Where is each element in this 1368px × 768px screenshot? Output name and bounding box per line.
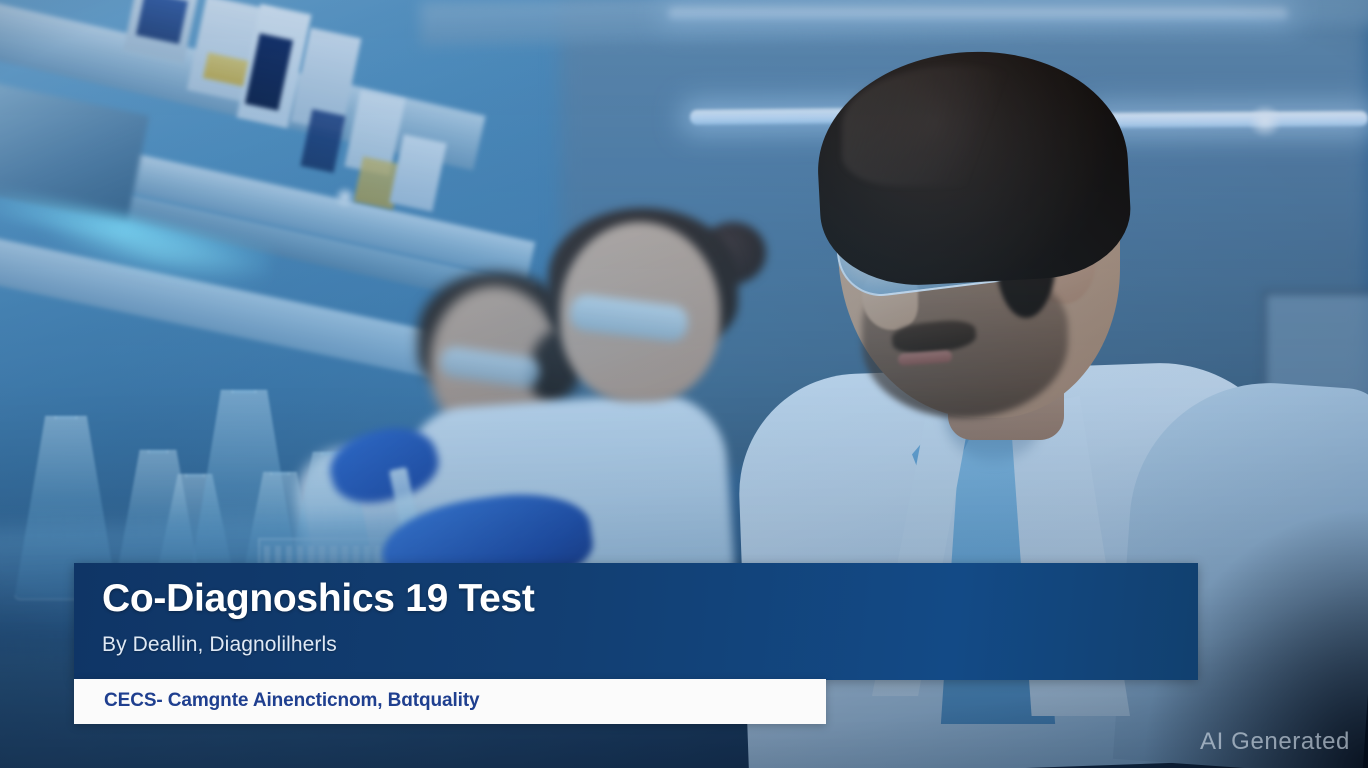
screenshot-root: Co-Diagnoshics 19 Test By Deallin, Diagn…	[0, 0, 1368, 768]
title-banner: Co-Diagnoshics 19 Test By Deallin, Diagn…	[74, 563, 1198, 680]
ai-generated-watermark: AI Generated	[1200, 728, 1350, 756]
category-bar: CECS- Camgnte Ainencticnom, Bɑtquality	[74, 679, 826, 724]
page-title: Co-Diagnoshics 19 Test	[102, 577, 535, 621]
banner-subtitle: By Deallin, Diagnolilherls	[102, 633, 337, 657]
category-label: CECS- Camgnte Ainencticnom, Bɑtquality	[104, 690, 480, 712]
